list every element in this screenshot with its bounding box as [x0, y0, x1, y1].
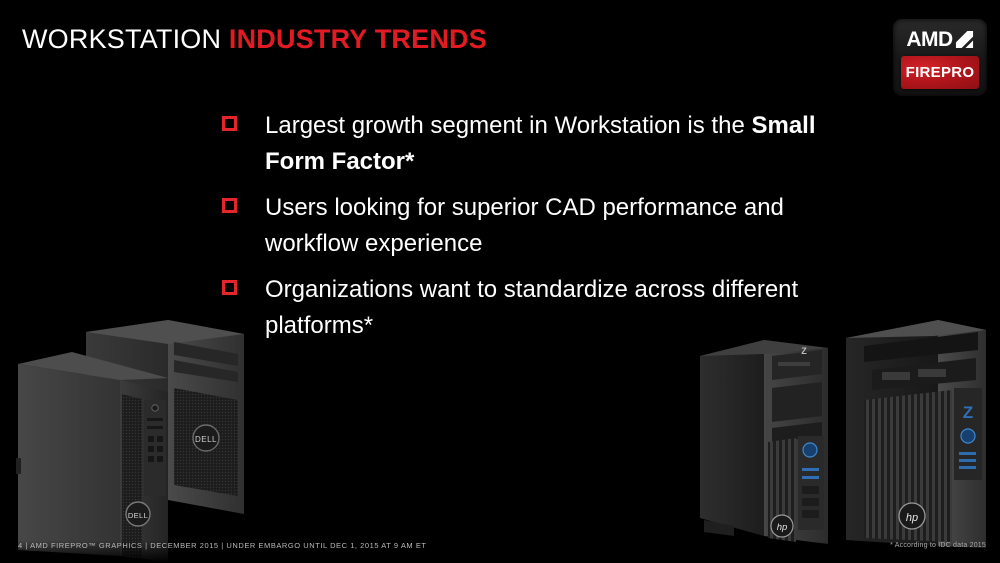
- amd-arrow-icon: [955, 30, 974, 49]
- page-title-accent: INDUSTRY TRENDS: [229, 24, 487, 54]
- page-title-primary: WORKSTATION: [22, 24, 229, 54]
- svg-text:Z: Z: [963, 403, 973, 422]
- svg-text:DELL: DELL: [195, 435, 217, 444]
- logo-amd-row: AMD: [893, 24, 987, 54]
- list-item: Largest growth segment in Workstation is…: [222, 108, 842, 180]
- svg-text:Z: Z: [801, 346, 807, 356]
- page-title: WORKSTATION INDUSTRY TRENDS: [22, 26, 487, 53]
- bullet-text-regular: Largest growth segment in Workstation is…: [265, 112, 751, 139]
- bullet-text: Largest growth segment in Workstation is…: [265, 108, 842, 180]
- red-square-bullet-icon: [222, 198, 237, 213]
- logo-amd-text: AMD: [906, 29, 952, 50]
- list-item: Users looking for superior CAD performan…: [222, 190, 842, 262]
- red-square-bullet-icon: [222, 116, 237, 131]
- dell-workstations-photo: DELL: [8, 318, 308, 563]
- footnote-text: * According to IDC data 2015: [890, 542, 986, 549]
- footer-left-text: 4 | AMD FIREPRO™ GRAPHICS | DECEMBER 201…: [18, 541, 427, 550]
- amd-firepro-logo: AMD FIREPRO: [893, 19, 987, 96]
- red-square-bullet-icon: [222, 280, 237, 295]
- logo-firepro-text: FIREPRO: [906, 65, 975, 80]
- logo-firepro-plate: FIREPRO: [901, 56, 979, 89]
- bullet-text: Users looking for superior CAD performan…: [265, 190, 842, 262]
- slide-canvas: WORKSTATION INDUSTRY TRENDS AMD FIREPRO …: [0, 0, 1000, 563]
- hp-workstations-photo: Z hp: [686, 318, 991, 563]
